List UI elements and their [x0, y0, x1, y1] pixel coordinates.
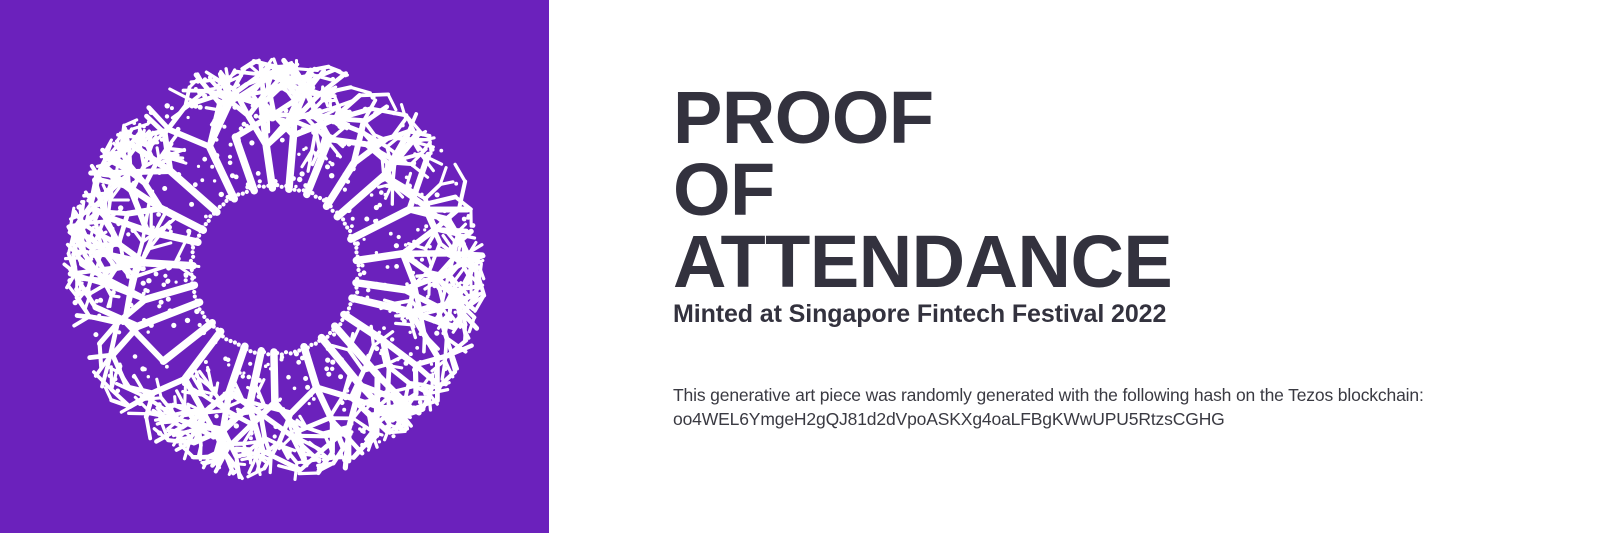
title-line-proof: PROOF	[673, 82, 1573, 154]
event-subtitle: Minted at Singapore Fintech Festival 202…	[673, 299, 1166, 329]
generative-art-svg	[0, 0, 549, 533]
branch-strokes	[64, 59, 484, 479]
page-title: PROOF OF ATTENDANCE	[673, 82, 1573, 298]
title-line-attendance: ATTENDANCE	[673, 226, 1573, 298]
text-panel: PROOF OF ATTENDANCE Minted at Singapore …	[673, 0, 1573, 533]
hash-description: This generative art piece was randomly g…	[673, 383, 1533, 431]
artwork-panel	[0, 0, 549, 533]
proof-of-attendance-card: PROOF OF ATTENDANCE Minted at Singapore …	[0, 0, 1600, 533]
blockchain-hash: oo4WEL6YmgeH2gQJ81d2dVpoASKXg4oaLFBgKWwU…	[673, 407, 1533, 431]
description-text: This generative art piece was randomly g…	[673, 383, 1533, 407]
title-line-of: OF	[673, 154, 1573, 226]
